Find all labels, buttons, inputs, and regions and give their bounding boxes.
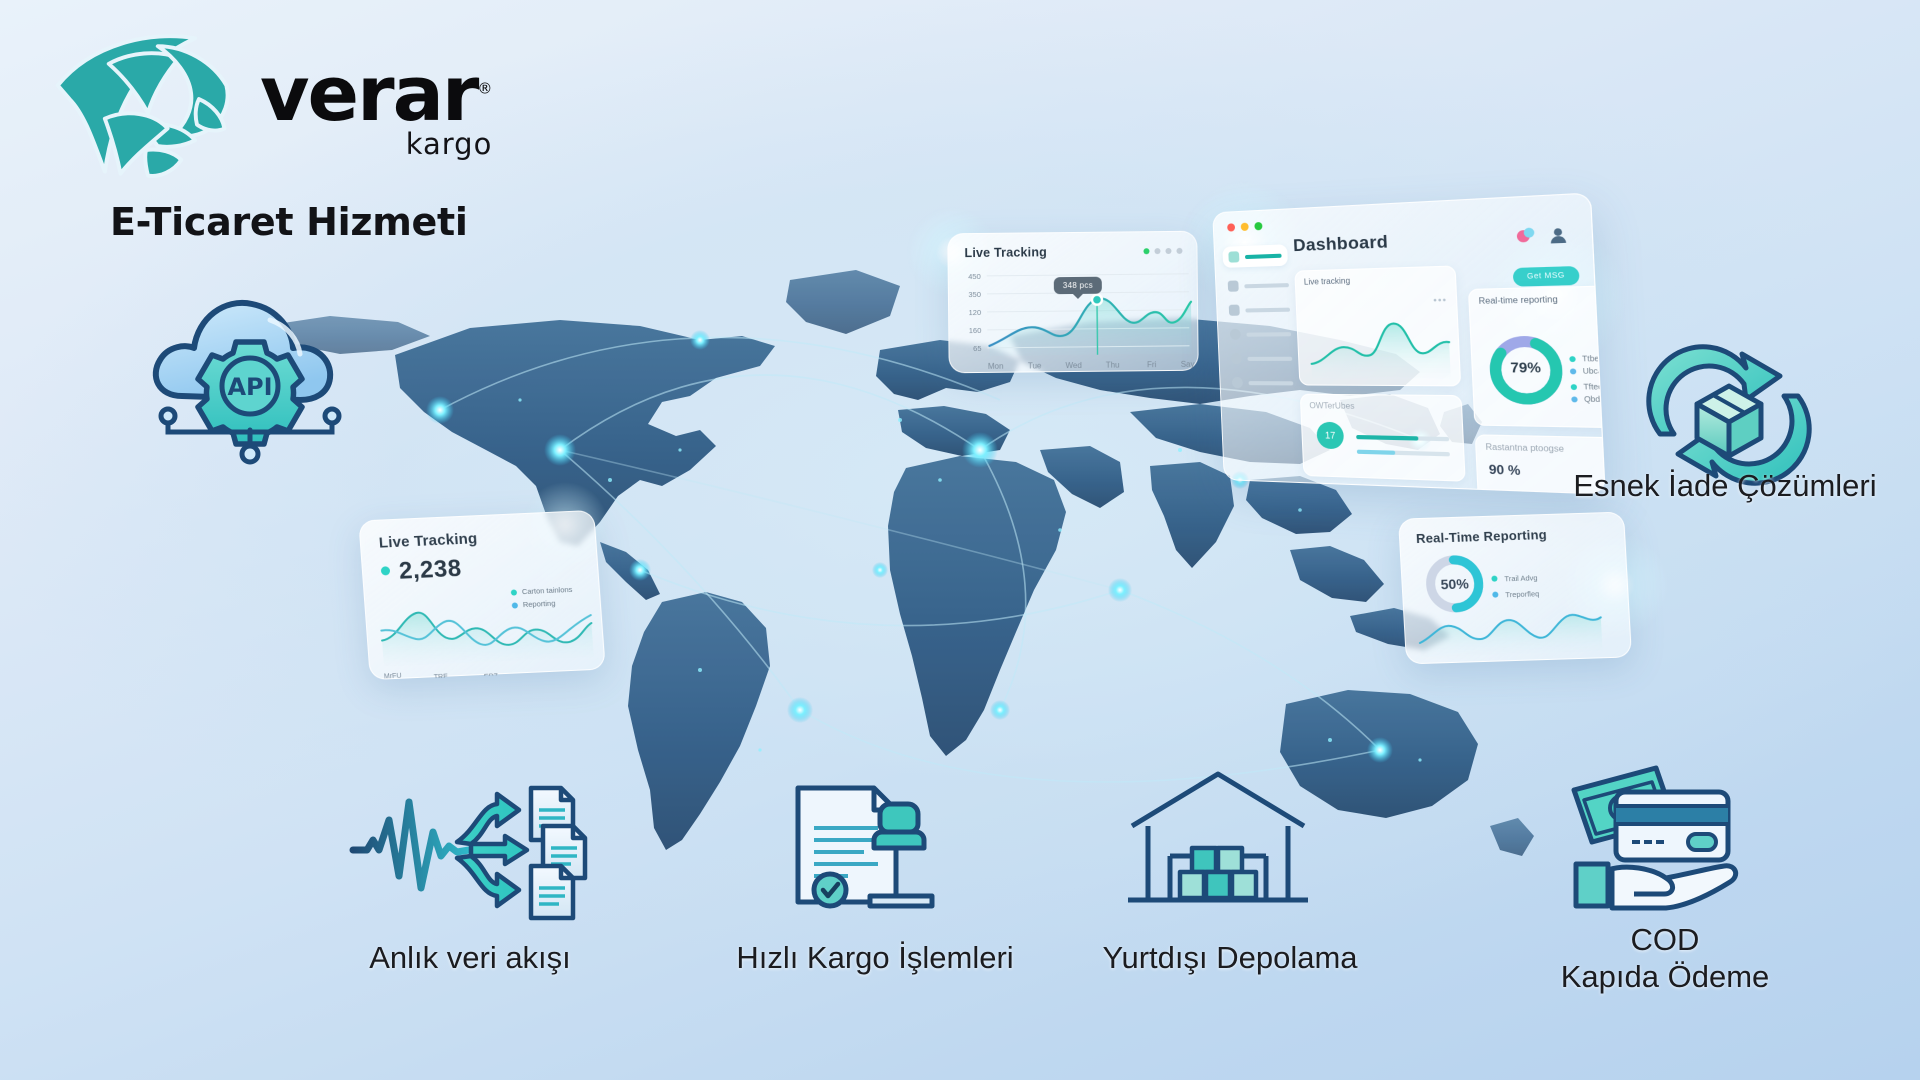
y-tick: 350: [968, 290, 981, 299]
card-title: Real-time reporting: [1469, 286, 1606, 306]
orders-icon: [1230, 329, 1241, 340]
progress-fill: [1356, 435, 1418, 441]
hero-banner: verar® kargo E-Ticaret Hizmeti API: [0, 0, 1920, 1080]
status-online-dot: [1143, 248, 1149, 254]
sidebar-item-orders[interactable]: [1230, 328, 1292, 340]
card-title: Rastantna ptoogse: [1476, 435, 1606, 456]
feature-label-dataflow: Anlık veri akışı: [300, 940, 640, 977]
sidebar-item-analytics[interactable]: [1229, 304, 1291, 316]
logo-lockup: verar® kargo: [48, 28, 568, 178]
kpi-circle-value: 17: [1316, 422, 1344, 450]
reports-icon: [1228, 280, 1239, 291]
profile-icon: [1232, 377, 1243, 388]
dot: [1165, 248, 1171, 254]
label-bar: [1244, 283, 1289, 288]
x-tick: Say: [1181, 360, 1195, 369]
minimize-icon[interactable]: [1241, 223, 1249, 231]
mini-area-chart: [1297, 307, 1462, 387]
progress-fill: [1357, 450, 1395, 455]
package-return-cycle-icon: [1634, 338, 1824, 488]
brand-block: verar® kargo E-Ticaret Hizmeti: [48, 28, 568, 244]
x-tick: Thu: [1106, 361, 1120, 370]
label-bar: [1246, 332, 1291, 337]
dashboard-title: Dashboard: [1293, 223, 1583, 256]
card-title: Live tracking: [1295, 267, 1455, 287]
feature-label-returns: Esnek İade Çözümleri: [1530, 468, 1920, 505]
legend-label: Trail Advg: [1504, 573, 1538, 583]
registered-mark: ®: [477, 80, 492, 98]
gear-icon: [1231, 353, 1242, 364]
x-tick: Tue: [1028, 361, 1042, 370]
donut-center-value: 50%: [1440, 575, 1469, 592]
dashboard-cta-button[interactable]: Get MSG: [1513, 266, 1580, 287]
x-tick: Fri: [1147, 360, 1157, 369]
dashboard-reporting-card[interactable]: Real-time reporting Ttbed Ubcarng Tfted …: [1468, 285, 1606, 429]
sidebar-item-profile[interactable]: [1232, 377, 1294, 388]
chart-legend: Carton tainlons Reporting: [510, 584, 573, 612]
document-stamp-icon: [778, 770, 968, 920]
window-traffic-lights[interactable]: [1227, 222, 1262, 232]
panther-head-logo-icon: [48, 28, 244, 178]
dashboard-sidebar[interactable]: [1222, 244, 1297, 473]
warehouse-boxes-icon: [1118, 760, 1318, 920]
dot: [1176, 248, 1182, 254]
y-tick: 450: [968, 272, 981, 281]
feature-label-cod: COD Kapıda Ödeme: [1500, 922, 1830, 995]
y-tick: 160: [969, 326, 982, 335]
brand-name-text: verar: [260, 49, 477, 138]
value-indicator-dot: [381, 566, 391, 575]
feature-label-warehouse: Yurtdışı Depolama: [1060, 940, 1400, 977]
dashboard-kpi-card-left[interactable]: OWTerUbes 17: [1300, 394, 1466, 482]
y-tick: 65: [973, 344, 981, 353]
kpi-value: 90 %: [1489, 462, 1521, 478]
legend-label: Reporting: [522, 597, 555, 611]
waveform-to-documents-icon: [345, 780, 595, 925]
x-tick: Wed: [1065, 361, 1081, 370]
close-icon[interactable]: [1227, 223, 1235, 231]
dashboard-body: Dashboard Get MSG Live tracking •••: [1293, 223, 1595, 486]
wordmark-group: verar® kargo: [260, 45, 492, 161]
page-title: E-Ticaret Hizmeti: [110, 200, 568, 244]
y-tick: 120: [969, 308, 982, 317]
card-title: Live Tracking: [378, 530, 478, 551]
user-avatar-icon[interactable]: [1548, 226, 1568, 245]
donut-center-value: 79%: [1502, 359, 1549, 376]
chart-tooltip: 348 pcs: [1054, 277, 1102, 295]
more-options-icon[interactable]: •••: [1433, 295, 1447, 306]
x-tick: Mon: [988, 362, 1004, 371]
x-tick: MrFU: [384, 673, 402, 681]
cash-card-hand-icon: [1548, 762, 1748, 912]
live-tracking-card-left[interactable]: Live Tracking 2,238 MrFU TRE ERZ DAX Art…: [358, 510, 606, 680]
live-tracking-value: 2,238: [398, 555, 463, 586]
legend-label: Treporfleq: [1505, 589, 1539, 599]
reporting-chart: 50% Trail Advg Treporfleq: [1400, 538, 1633, 665]
sidebar-item-home[interactable]: [1222, 244, 1288, 268]
dashboard-live-tracking-card[interactable]: Live tracking •••: [1294, 265, 1461, 386]
label-bar: [1247, 356, 1292, 360]
legend-label: Carton tainlons: [521, 584, 572, 599]
dot: [1154, 248, 1160, 254]
label-bar: [1245, 253, 1282, 258]
maximize-icon[interactable]: [1254, 222, 1262, 230]
sidebar-item-reports[interactable]: [1228, 279, 1289, 292]
dashboard-window[interactable]: Dashboard Get MSG Live tracking •••: [1212, 192, 1606, 494]
sidebar-item-settings[interactable]: [1231, 353, 1293, 364]
card-title: Live Tracking: [964, 245, 1047, 260]
real-time-reporting-card[interactable]: Real-Time Reporting 50% Trail Advg Trepo…: [1398, 512, 1632, 665]
legend-label: Tfted: [1583, 384, 1603, 392]
label-bar: [1245, 307, 1290, 312]
card-status-dots: [1143, 248, 1182, 254]
label-bar: [1249, 381, 1294, 385]
api-badge-text: API: [227, 373, 272, 401]
analytics-icon: [1229, 305, 1240, 316]
card-title: OWTerUbes: [1301, 395, 1462, 413]
home-icon: [1228, 251, 1239, 262]
brand-wordmark: verar®: [260, 59, 492, 129]
feature-label-shipping: Hızlı Kargo İşlemleri: [690, 940, 1060, 977]
live-tracking-card-top[interactable]: Live Tracking: [947, 231, 1198, 374]
cloud-api-gear-icon: API: [140, 268, 360, 478]
